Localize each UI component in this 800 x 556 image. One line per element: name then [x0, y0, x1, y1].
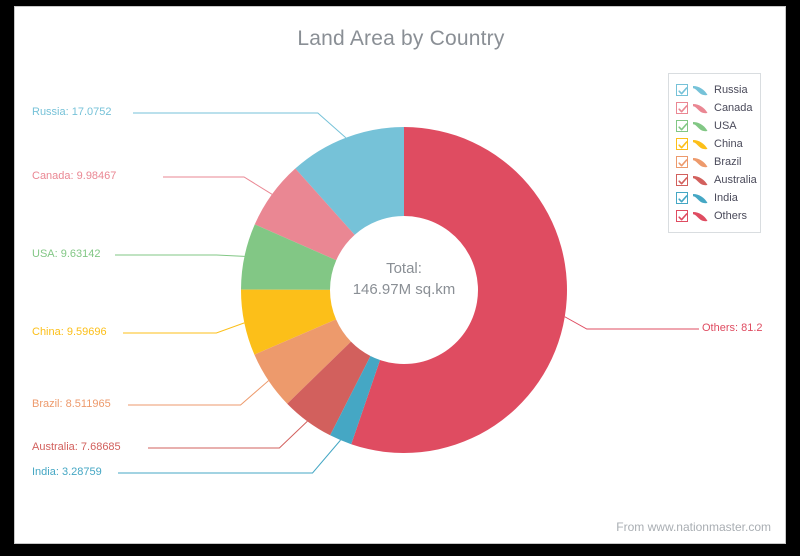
leader-line-china	[123, 323, 244, 333]
slice-label-russia: Russia: 17.0752	[32, 106, 112, 118]
slice-label-canada: Canada: 9.98467	[32, 170, 116, 182]
legend-item-others[interactable]: Others	[676, 207, 754, 225]
legend-swatch-canada	[692, 101, 709, 115]
legend-checkbox-canada[interactable]	[676, 102, 688, 114]
legend-label: Australia	[714, 174, 757, 186]
chart-panel: Land Area by Country Total: 146.97M sq.k…	[14, 6, 786, 544]
legend-label: USA	[714, 120, 737, 132]
donut-slices[interactable]	[241, 127, 567, 453]
legend-swatch-others	[692, 209, 709, 223]
legend-item-usa[interactable]: USA	[676, 117, 754, 135]
legend-item-brazil[interactable]: Brazil	[676, 153, 754, 171]
slice-label-brazil: Brazil: 8.511965	[32, 398, 111, 410]
legend-swatch-usa	[692, 119, 709, 133]
legend[interactable]: RussiaCanadaUSAChinaBrazilAustraliaIndia…	[668, 73, 761, 233]
legend-checkbox-brazil[interactable]	[676, 156, 688, 168]
legend-swatch-australia	[692, 173, 709, 187]
leader-line-others	[565, 317, 699, 329]
legend-label: India	[714, 192, 738, 204]
donut-svg[interactable]	[234, 110, 574, 470]
legend-item-india[interactable]: India	[676, 189, 754, 207]
legend-checkbox-russia[interactable]	[676, 84, 688, 96]
leader-line-usa	[115, 255, 245, 256]
slice-label-india: India: 3.28759	[32, 466, 102, 478]
legend-label: Russia	[714, 84, 748, 96]
source-credit: From www.nationmaster.com	[616, 520, 771, 534]
legend-item-canada[interactable]: Canada	[676, 99, 754, 117]
slice-label-china: China: 9.59696	[32, 326, 107, 338]
legend-label: Brazil	[714, 156, 742, 168]
slice-label-others: Others: 81.2	[702, 322, 763, 334]
slice-label-usa: USA: 9.63142	[32, 248, 101, 260]
legend-label: Others	[714, 210, 747, 222]
legend-label: Canada	[714, 102, 753, 114]
legend-checkbox-others[interactable]	[676, 210, 688, 222]
legend-checkbox-china[interactable]	[676, 138, 688, 150]
chart-title: Land Area by Country	[15, 27, 786, 51]
donut-chart[interactable]: Total: 146.97M sq.km	[234, 110, 574, 470]
slice-label-australia: Australia: 7.68685	[32, 441, 121, 453]
legend-label: China	[714, 138, 743, 150]
legend-swatch-brazil	[692, 155, 709, 169]
legend-checkbox-australia[interactable]	[676, 174, 688, 186]
legend-checkbox-india[interactable]	[676, 192, 688, 204]
legend-item-russia[interactable]: Russia	[676, 81, 754, 99]
legend-swatch-russia	[692, 83, 709, 97]
legend-swatch-china	[692, 137, 709, 151]
legend-checkbox-usa[interactable]	[676, 120, 688, 132]
legend-item-china[interactable]: China	[676, 135, 754, 153]
legend-swatch-india	[692, 191, 709, 205]
legend-item-australia[interactable]: Australia	[676, 171, 754, 189]
